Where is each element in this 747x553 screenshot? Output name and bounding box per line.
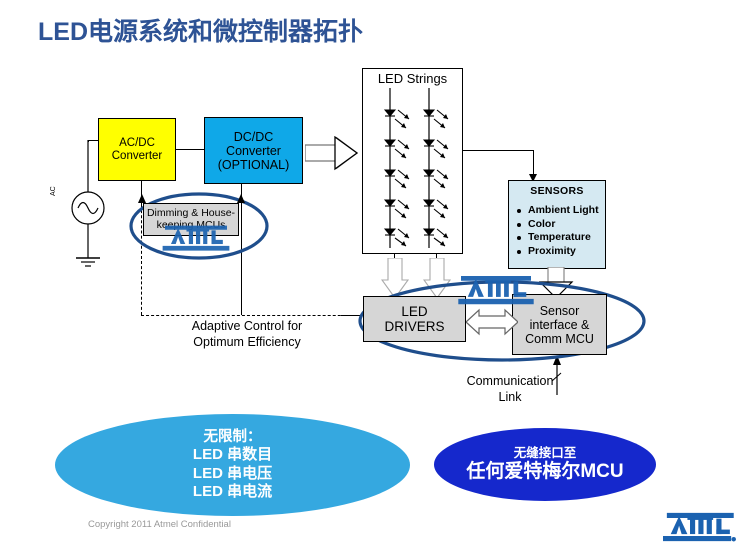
slide-canvas: LED电源系统和微控制器拓扑 AC AC/DC Converter DC/DC …: [0, 0, 747, 553]
sensors-list: Ambient Light Color Temperature Proximit…: [515, 204, 605, 259]
sensors-box[interactable]: SENSORS Ambient Light Color Temperature …: [508, 180, 606, 269]
led-diode-icon: [362, 88, 463, 253]
copyright-text: Copyright 2011 Atmel Confidential: [88, 519, 231, 530]
seamless-big-text: 任何爱特梅尔MCU: [466, 461, 623, 483]
sensor-mcu-line2: interface &: [530, 318, 590, 332]
sensor-item: Ambient Light: [515, 204, 605, 218]
acdc-line1: AC/DC: [119, 137, 155, 150]
dcdc-line1: DC/DC: [234, 130, 274, 144]
adaptive-dash-bottom: [141, 315, 366, 316]
unlimited-callout-ellipse: 无限制： LED 串数目 LED 串电压 LED 串电流: [55, 414, 410, 516]
adaptive-dash-left: [141, 205, 142, 315]
sensor-mcu-line1: Sensor: [540, 304, 580, 318]
acdc-line2: Converter: [112, 150, 163, 163]
sensor-item: Temperature: [515, 231, 605, 245]
atmel-logo: [455, 272, 537, 307]
led-drivers-box[interactable]: LED DRIVERS: [363, 296, 466, 342]
led-drivers-line1: LED: [401, 304, 427, 319]
communication-link-label: Communication Link: [440, 374, 580, 405]
sensors-title: SENSORS: [509, 186, 605, 198]
led-strings-label: LED Strings: [378, 72, 447, 87]
seamless-small-text: 无缝接口至: [514, 446, 577, 461]
block-arrow-bidirectional-icon: [466, 305, 518, 339]
adaptive-control-label: Adaptive Control for Optimum Efficiency: [162, 319, 332, 350]
wire-strings-to-sensors: [463, 150, 533, 151]
sensor-item: Color: [515, 218, 605, 232]
unlimited-line: LED 串电流: [193, 483, 272, 501]
seamless-callout-ellipse: 无缝接口至 任何爱特梅尔MCU: [434, 428, 656, 501]
acdc-converter-box[interactable]: AC/DC Converter: [98, 118, 176, 181]
sensor-item: Proximity: [515, 245, 605, 259]
wire-acdc-to-dcdc: [176, 149, 204, 150]
dcdc-line2: Converter: [226, 144, 281, 158]
block-arrow-right-icon: [305, 136, 365, 176]
wire-corner-ac: [88, 140, 89, 142]
unlimited-line: LED 串电压: [193, 465, 272, 483]
unlimited-heading: 无限制：: [204, 429, 262, 447]
wire-adaptive-to-drivers: [341, 315, 364, 316]
comm-link-line1: Communication: [440, 374, 580, 390]
dcdc-line3: (OPTIONAL): [218, 158, 290, 172]
comm-link-line2: Link: [440, 390, 580, 406]
sensor-mcu-line3: Comm MCU: [525, 332, 594, 346]
dcdc-converter-box[interactable]: DC/DC Converter (OPTIONAL): [204, 117, 303, 184]
adaptive-line2: Optimum Efficiency: [162, 335, 332, 351]
adaptive-line1: Adaptive Control for: [162, 319, 332, 335]
unlimited-line: LED 串数目: [193, 446, 272, 464]
atmel-logo: [657, 509, 741, 545]
page-title: LED电源系统和微控制器拓扑: [38, 12, 363, 48]
led-drivers-line2: DRIVERS: [384, 319, 444, 334]
atmel-logo: [160, 222, 232, 253]
dimming-line1: Dimming & House-: [147, 208, 235, 220]
